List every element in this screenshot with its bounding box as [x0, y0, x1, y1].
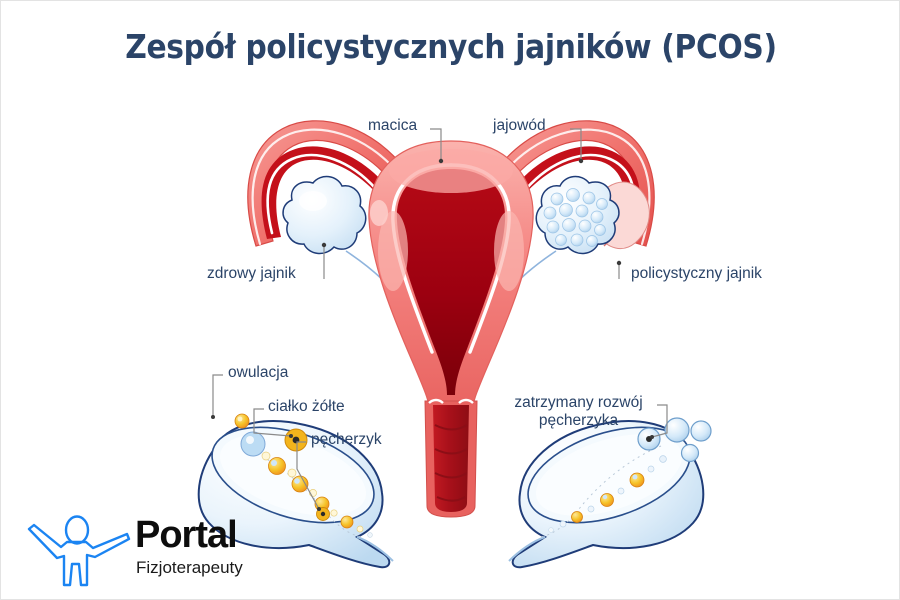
label-healthy-ovary: zdrowy jajnik — [207, 265, 296, 283]
label-arrested-line2: pęcherzyka — [539, 412, 618, 429]
label-arrested-line1: zatrzymany rozwój — [514, 394, 642, 411]
leader-ovulation — [213, 375, 223, 417]
label-follicle: pęcherzyk — [311, 431, 382, 449]
label-uterus: macica — [368, 117, 417, 135]
ovulation-marker — [235, 414, 249, 428]
corpus-luteum-marker — [285, 429, 307, 451]
label-corpus-luteum: ciałko żółte — [268, 398, 345, 416]
uterus-body — [369, 141, 533, 419]
logo-subtitle: Fizjoterapeuty — [136, 558, 243, 577]
label-polycystic-ovary: policystyczny jajnik — [631, 265, 762, 283]
label-ovulation: owulacja — [228, 364, 288, 382]
pcos-ovary-section — [509, 409, 711, 567]
label-fallopian-tube: jajowód — [493, 117, 546, 135]
portal-fizjoterapeuty-logo[interactable]: Portal Fizjoterapeuty — [17, 501, 267, 589]
logo-figure-icon — [29, 517, 129, 586]
cervix — [425, 400, 477, 517]
healthy-ovary-upper — [283, 177, 366, 254]
label-arrested-follicle: zatrzymany rozwój pęcherzyka — [501, 394, 656, 431]
logo-name: Portal — [135, 514, 237, 556]
illustration-page: Zespół policystycznych jajników (PCOS) — [0, 0, 900, 600]
polycystic-ovary-upper — [536, 177, 619, 254]
